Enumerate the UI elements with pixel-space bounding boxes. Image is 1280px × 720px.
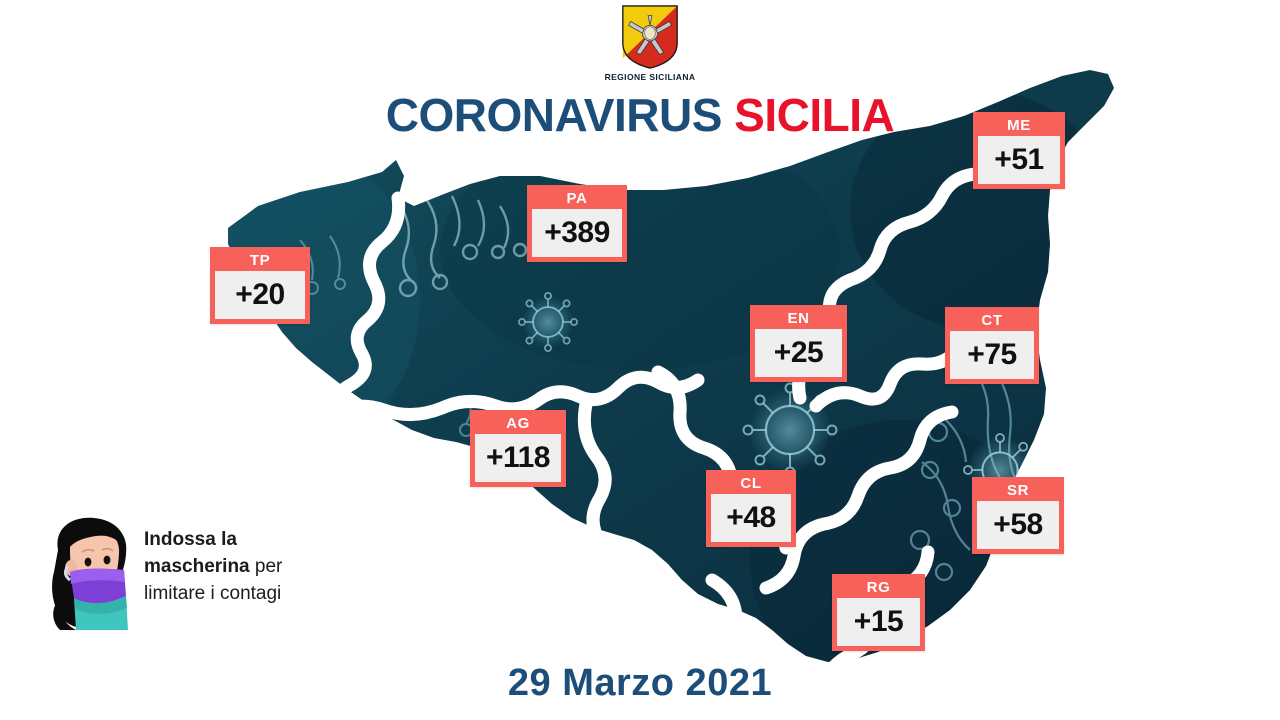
province-code: PA <box>532 189 622 209</box>
province-code: TP <box>215 251 305 271</box>
province-box-en[interactable]: EN +25 <box>750 305 847 382</box>
advisory-line2-rest: per <box>250 556 283 577</box>
province-code: RG <box>837 578 920 598</box>
infographic-root: REGIONE SICILIANA CORONAVIRUS SICILIA TP… <box>0 0 1280 720</box>
province-value: +51 <box>978 136 1060 184</box>
trinacria-emblem-icon <box>618 4 682 70</box>
province-box-ag[interactable]: AG +118 <box>470 410 566 487</box>
title-coronavirus: CORONAVIRUS <box>386 89 722 141</box>
person-wearing-mask-icon <box>40 512 145 630</box>
province-code: SR <box>977 481 1059 501</box>
province-box-ct[interactable]: CT +75 <box>945 307 1039 384</box>
province-code: CT <box>950 311 1034 331</box>
province-value: +20 <box>215 271 305 319</box>
advisory-line3: limitare i contagi <box>144 583 281 604</box>
province-code: AG <box>475 414 561 434</box>
province-box-me[interactable]: ME +51 <box>973 112 1065 189</box>
province-box-pa[interactable]: PA +389 <box>527 185 627 262</box>
province-value: +58 <box>977 501 1059 549</box>
province-value: +389 <box>532 209 622 257</box>
province-box-cl[interactable]: CL +48 <box>706 470 796 547</box>
province-box-tp[interactable]: TP +20 <box>210 247 310 324</box>
province-code: CL <box>711 474 791 494</box>
mask-advisory: Indossa la mascherina per limitare i con… <box>40 512 370 632</box>
page-title: CORONAVIRUS SICILIA <box>0 92 1280 138</box>
advisory-line2-bold: mascherina <box>144 556 250 577</box>
province-value: +75 <box>950 331 1034 379</box>
province-box-sr[interactable]: SR +58 <box>972 477 1064 554</box>
report-date: 29 Marzo 2021 <box>0 662 1280 705</box>
logo-caption: REGIONE SICILIANA <box>598 72 702 82</box>
province-value: +25 <box>755 329 842 377</box>
mask-advisory-text: Indossa la mascherina per limitare i con… <box>144 526 374 607</box>
regione-siciliana-logo: REGIONE SICILIANA <box>598 4 702 82</box>
title-sicilia: SICILIA <box>734 89 894 141</box>
province-value: +118 <box>475 434 561 482</box>
province-code: ME <box>978 116 1060 136</box>
province-box-rg[interactable]: RG +15 <box>832 574 925 651</box>
province-value: +48 <box>711 494 791 542</box>
province-code: EN <box>755 309 842 329</box>
advisory-line1: Indossa la <box>144 529 237 550</box>
province-value: +15 <box>837 598 920 646</box>
